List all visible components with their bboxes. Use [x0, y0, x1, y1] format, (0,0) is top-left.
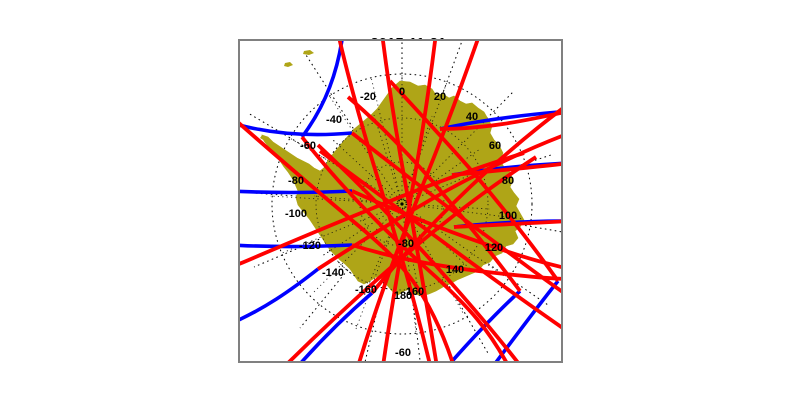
antarctica-map-svg [240, 41, 561, 361]
figure-canvas: 2015-11-21 Version: 5.00 Standard Red is… [0, 0, 800, 400]
map-plot-area[interactable]: 0 20 40 60 80 100 120 140 160 180 -160 -… [238, 39, 563, 363]
